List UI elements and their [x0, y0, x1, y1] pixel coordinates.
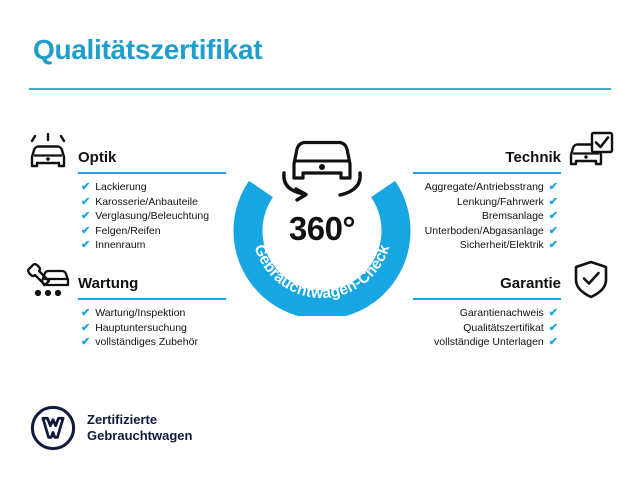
- check-icon: ✔: [81, 321, 90, 336]
- car-shine-icon: [26, 133, 70, 178]
- list-item-label: vollständiges Zubehör: [95, 335, 198, 350]
- checklist-wartung: ✔Wartung/Inspektion ✔Hauptuntersuchung ✔…: [81, 306, 226, 350]
- section-technik: Technik Aggregate/Antriebsstrang✔ Lenkun…: [413, 140, 561, 253]
- shield-check-icon: [572, 259, 610, 306]
- brand-line-1: Zertifizierte: [87, 412, 192, 428]
- page-title: Qualitätszertifikat: [33, 34, 262, 66]
- list-item-label: Hauptuntersuchung: [95, 321, 187, 336]
- section-optik: Optik ✔Lackierung ✔Karosserie/Anbauteile…: [78, 140, 226, 253]
- section-header: Garantie: [413, 266, 561, 300]
- badge-360-check: Gebrauchtwagen-Check 360°: [232, 116, 412, 316]
- certificate-page: Qualitätszertifikat: [0, 0, 640, 480]
- check-icon: ✔: [549, 306, 558, 321]
- check-icon: ✔: [81, 335, 90, 350]
- list-item-label: Innenraum: [95, 238, 145, 253]
- footer-brand: Zertifizierte Gebrauchtwagen: [30, 405, 192, 451]
- section-title: Technik: [505, 149, 561, 166]
- section-divider: [413, 298, 561, 300]
- checklist-optik: ✔Lackierung ✔Karosserie/Anbauteile ✔Verg…: [81, 180, 226, 253]
- badge-center-label: 360°: [232, 210, 412, 248]
- list-item: ✔Hauptuntersuchung: [81, 321, 226, 336]
- list-item: Sicherheit/Elektrik✔: [413, 238, 558, 253]
- check-icon: ✔: [81, 209, 90, 224]
- checklist-garantie: Garantienachweis✔ Qualitätszertifikat✔ v…: [413, 306, 558, 350]
- list-item: Lenkung/Fahrwerk✔: [413, 195, 558, 210]
- car-wrench-icon: [24, 259, 72, 306]
- list-item: Unterboden/Abgasanlage✔: [413, 224, 558, 239]
- vw-logo: [30, 405, 76, 451]
- check-icon: ✔: [549, 180, 558, 195]
- check-icon: ✔: [549, 321, 558, 336]
- list-item: Aggregate/Antriebsstrang✔: [413, 180, 558, 195]
- brand-text: Zertifizierte Gebrauchtwagen: [87, 412, 192, 444]
- list-item-label: Lenkung/Fahrwerk: [457, 195, 544, 210]
- section-divider: [413, 172, 561, 174]
- section-title: Garantie: [500, 275, 561, 292]
- list-item-label: Wartung/Inspektion: [95, 306, 185, 321]
- check-icon: ✔: [549, 335, 558, 350]
- list-item-label: Lackierung: [95, 180, 146, 195]
- list-item: vollständige Unterlagen✔: [413, 335, 558, 350]
- section-garantie: Garantie Garantienachweis✔ Qualitätszert…: [413, 266, 561, 350]
- title-divider: [29, 88, 611, 90]
- section-wartung: Wartung ✔Wartung/Inspektion ✔Hauptunters…: [78, 266, 226, 350]
- list-item: Bremsanlage✔: [413, 209, 558, 224]
- list-item: ✔Lackierung: [81, 180, 226, 195]
- list-item-label: Sicherheit/Elektrik: [460, 238, 544, 253]
- section-header: Wartung: [78, 266, 226, 300]
- check-icon: ✔: [549, 238, 558, 253]
- list-item: ✔Karosserie/Anbauteile: [81, 195, 226, 210]
- section-header: Technik: [413, 140, 561, 174]
- checklist-technik: Aggregate/Antriebsstrang✔ Lenkung/Fahrwe…: [413, 180, 558, 253]
- check-icon: ✔: [549, 224, 558, 239]
- brand-line-2: Gebrauchtwagen: [87, 428, 192, 444]
- list-item: ✔Wartung/Inspektion: [81, 306, 226, 321]
- list-item-label: Bremsanlage: [482, 209, 544, 224]
- list-item: ✔Verglasung/Beleuchtung: [81, 209, 226, 224]
- list-item-label: vollständige Unterlagen: [434, 335, 544, 350]
- list-item-label: Karosserie/Anbauteile: [95, 195, 198, 210]
- list-item: ✔Felgen/Reifen: [81, 224, 226, 239]
- list-item-label: Felgen/Reifen: [95, 224, 160, 239]
- list-item: Qualitätszertifikat✔: [413, 321, 558, 336]
- check-icon: ✔: [81, 224, 90, 239]
- check-icon: ✔: [81, 195, 90, 210]
- section-divider: [78, 298, 226, 300]
- section-header: Optik: [78, 140, 226, 174]
- section-divider: [78, 172, 226, 174]
- list-item: Garantienachweis✔: [413, 306, 558, 321]
- section-title: Wartung: [78, 275, 138, 292]
- list-item: ✔Innenraum: [81, 238, 226, 253]
- list-item: ✔vollständiges Zubehör: [81, 335, 226, 350]
- check-icon: ✔: [81, 180, 90, 195]
- list-item-label: Qualitätszertifikat: [463, 321, 544, 336]
- car-checkbox-icon: [568, 131, 614, 176]
- car-rotation-icon: [284, 143, 360, 201]
- list-item-label: Garantienachweis: [460, 306, 544, 321]
- check-icon: ✔: [549, 195, 558, 210]
- check-icon: ✔: [549, 209, 558, 224]
- list-item-label: Unterboden/Abgasanlage: [425, 224, 544, 239]
- section-title: Optik: [78, 149, 116, 166]
- list-item-label: Verglasung/Beleuchtung: [95, 209, 209, 224]
- check-icon: ✔: [81, 306, 90, 321]
- check-icon: ✔: [81, 238, 90, 253]
- list-item-label: Aggregate/Antriebsstrang: [425, 180, 544, 195]
